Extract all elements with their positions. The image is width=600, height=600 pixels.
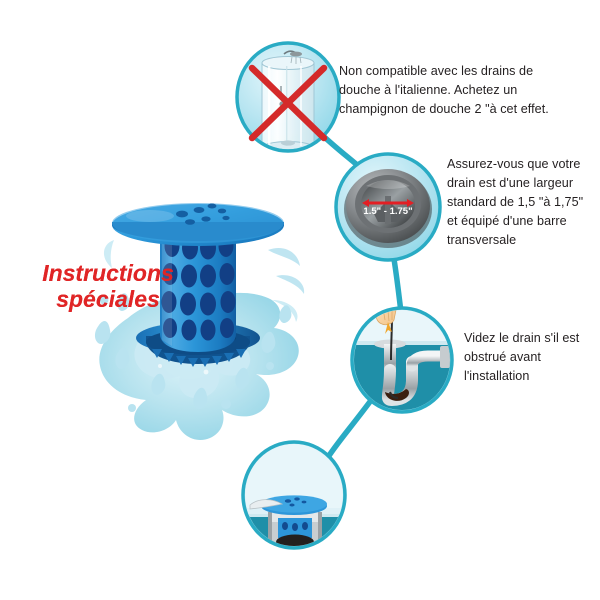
step-1-circle[interactable]: [237, 43, 339, 155]
step-3-text: Videz le drain s'il est obstrué avant l'…: [464, 329, 600, 386]
page-title-line-1: Instructions: [42, 260, 174, 286]
page-title-line-2: spéciales: [18, 286, 198, 312]
step-1-text: Non compatible avec les drains de douche…: [339, 62, 591, 119]
step-2-text: Assurez-vous que votre drain est d'une l…: [447, 155, 599, 250]
measurement-label: 1.5" - 1.75": [363, 206, 412, 217]
installed-drain-catcher-cutaway-icon: [244, 444, 346, 563]
infographic-canvas: Instructions spéciales: [0, 0, 600, 600]
step-2-circle[interactable]: 1.5" - 1.75": [336, 154, 440, 260]
step-3-circle[interactable]: [352, 300, 452, 414]
page-title: Instructions spéciales: [18, 260, 198, 312]
step-4-circle[interactable]: [243, 442, 346, 563]
